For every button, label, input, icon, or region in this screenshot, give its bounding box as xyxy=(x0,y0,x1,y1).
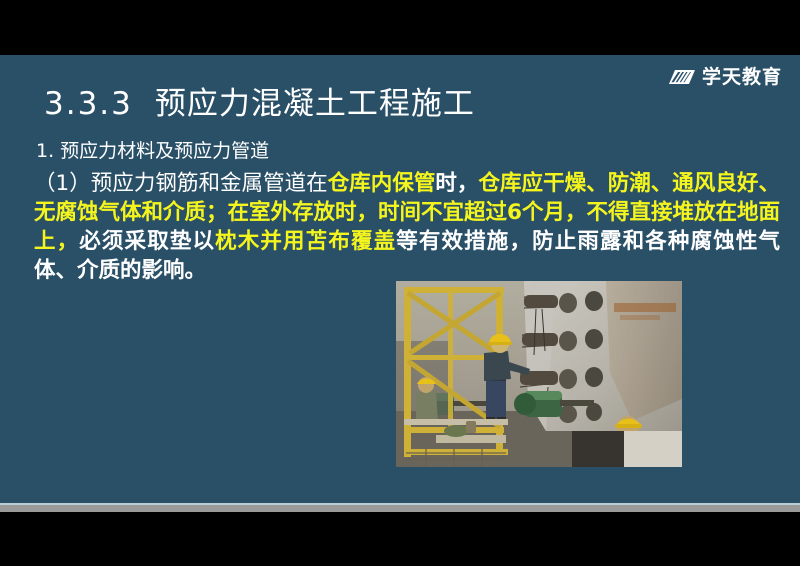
body-segment-4: 必须采取垫以 xyxy=(79,229,215,254)
section-subheading: 1. 预应力材料及预应力管道 xyxy=(36,136,269,163)
brand-logo: 学天教育 xyxy=(666,67,782,87)
presentation-slide: 学天教育 3.3.3预应力混凝土工程施工 1. 预应力材料及预应力管道 （1）预… xyxy=(0,55,800,505)
body-segment-5: 枕木并用苫布覆盖 xyxy=(215,229,396,254)
brand-logo-text: 学天教育 xyxy=(702,68,782,87)
body-paragraph: （1）预应力钢筋和金属管道在仓库内保管时，仓库应干燥、防潮、通风良好、无腐蚀气体… xyxy=(34,169,780,285)
slide-bottom-band xyxy=(0,505,800,512)
title-text: 预应力混凝土工程施工 xyxy=(155,86,475,122)
body-segment-1: 仓库内保管 xyxy=(328,171,436,196)
slide-screen: 学天教育 3.3.3预应力混凝土工程施工 1. 预应力材料及预应力管道 （1）预… xyxy=(0,0,800,566)
construction-photo-image xyxy=(396,281,682,467)
title-number: 3.3.3 xyxy=(44,86,133,122)
swoosh-stripes-mark xyxy=(666,67,696,87)
body-segment-0: （1）预应力钢筋和金属管道在 xyxy=(34,171,328,196)
body-segment-2: 时， xyxy=(435,171,478,196)
page-title: 3.3.3预应力混凝土工程施工 xyxy=(44,78,475,123)
construction-photo xyxy=(396,281,682,467)
